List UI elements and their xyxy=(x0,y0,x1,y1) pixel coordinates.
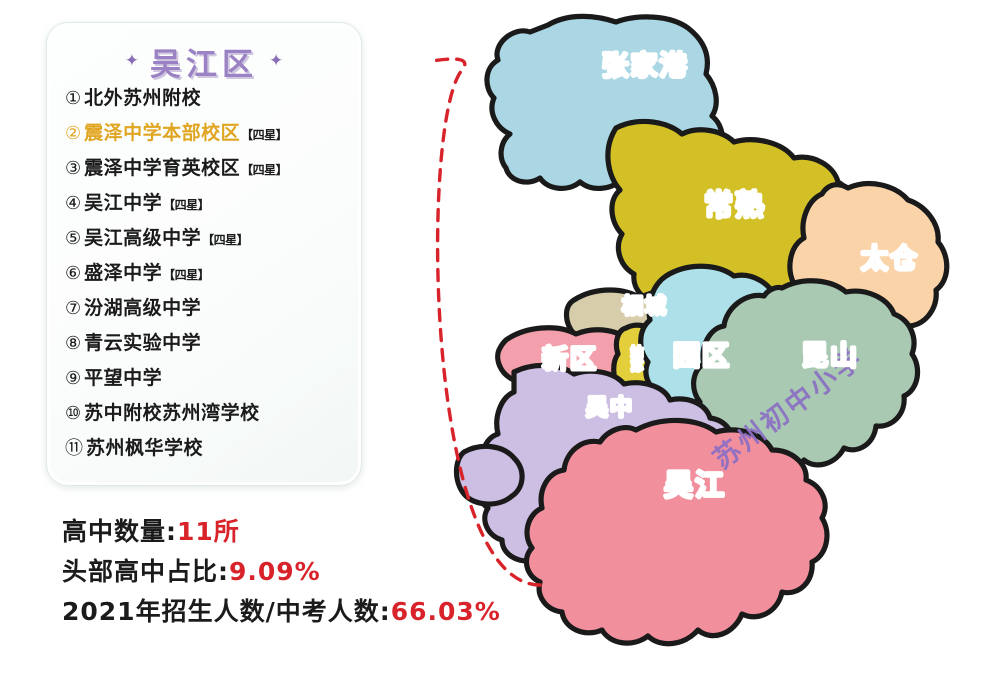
school-name: 青云实验中学 xyxy=(84,334,201,353)
school-list-item[interactable]: ①北外苏州附校 xyxy=(65,89,349,124)
statistic-label: 2021年招生人数/中考人数: xyxy=(62,597,391,626)
map-label-gusu[interactable]: 姑苏 xyxy=(631,344,645,373)
school-list-item[interactable]: ⑪苏州枫华学校 xyxy=(65,439,349,474)
school-list-item[interactable]: ⑦汾湖高级中学 xyxy=(65,299,349,334)
school-name: 吴江高级中学 xyxy=(84,229,201,248)
poster-root: ✦ 吴江区 ✦ ①北外苏州附校②震泽中学本部校区【四星】③震泽中学育英校区【四星… xyxy=(0,0,1000,685)
page-title: 吴江区 xyxy=(150,39,258,84)
statistic-label: 头部高中占比: xyxy=(62,557,229,586)
sparkle-right-icon: ✦ xyxy=(269,52,283,69)
school-index: ① xyxy=(65,90,81,108)
school-name: 苏州枫华学校 xyxy=(86,439,203,458)
school-list: ①北外苏州附校②震泽中学本部校区【四星】③震泽中学育英校区【四星】④吴江中学【四… xyxy=(65,89,349,474)
sparkle-left-icon: ✦ xyxy=(125,52,139,69)
school-star-badge: 【四星】 xyxy=(163,269,209,281)
school-list-item[interactable]: ⑩苏中附校苏州湾学校 xyxy=(65,404,349,439)
school-list-item[interactable]: ⑨平望中学 xyxy=(65,369,349,404)
school-name: 震泽中学育英校区 xyxy=(84,159,240,178)
school-name: 北外苏州附校 xyxy=(84,89,201,108)
school-star-badge: 【四星】 xyxy=(202,234,248,246)
statistic-label: 高中数量: xyxy=(62,517,177,546)
map-label-xiangcheng[interactable]: 相城 xyxy=(622,294,668,318)
school-name: 平望中学 xyxy=(84,369,162,388)
school-index: ② xyxy=(65,125,81,143)
school-index: ⑩ xyxy=(65,405,81,423)
school-index: ⑨ xyxy=(65,370,81,388)
map-label-xinqu[interactable]: 新区 xyxy=(542,344,598,375)
school-index: ⑦ xyxy=(65,300,81,318)
school-name: 苏中附校苏州湾学校 xyxy=(84,404,260,423)
school-list-item[interactable]: ⑤吴江高级中学【四星】 xyxy=(65,229,349,264)
school-name: 汾湖高级中学 xyxy=(84,299,201,318)
school-star-badge: 【四星】 xyxy=(241,164,287,176)
suzhou-district-map: 苏州初中小学 张家港常熟太仓相城新区姑苏园区昆山吴中吴江 xyxy=(430,0,1000,685)
statistic-value: 11所 xyxy=(177,517,240,546)
school-star-badge: 【四星】 xyxy=(241,129,287,141)
school-index: ⑪ xyxy=(65,440,83,458)
school-index: ⑧ xyxy=(65,335,81,353)
map-label-taicang[interactable]: 太仓 xyxy=(861,244,919,275)
map-label-zhangjiagang[interactable]: 张家港 xyxy=(602,50,689,82)
school-list-item[interactable]: ②震泽中学本部校区【四星】 xyxy=(65,124,349,159)
school-star-badge: 【四星】 xyxy=(163,199,209,211)
school-name: 盛泽中学 xyxy=(84,264,162,283)
school-list-item[interactable]: ⑧青云实验中学 xyxy=(65,334,349,369)
school-list-item[interactable]: ③震泽中学育英校区【四星】 xyxy=(65,159,349,194)
school-list-card: ✦ 吴江区 ✦ ①北外苏州附校②震泽中学本部校区【四星】③震泽中学育英校区【四星… xyxy=(46,22,362,486)
card-title-row: ✦ 吴江区 ✦ xyxy=(47,39,361,84)
map-label-wujiang[interactable]: 吴江 xyxy=(664,468,726,502)
school-index: ⑤ xyxy=(65,230,81,248)
school-list-item[interactable]: ④吴江中学【四星】 xyxy=(65,194,349,229)
map-label-wuzhong[interactable]: 吴中 xyxy=(586,396,634,421)
school-name: 震泽中学本部校区 xyxy=(84,124,240,143)
school-index: ⑥ xyxy=(65,265,81,283)
map-label-yuanqu[interactable]: 园区 xyxy=(673,341,731,372)
statistic-value: 9.09% xyxy=(229,557,321,586)
school-index: ④ xyxy=(65,195,81,213)
map-label-changshu[interactable]: 常熟 xyxy=(704,188,766,222)
map-label-kunshan[interactable]: 昆山 xyxy=(801,341,859,372)
school-list-item[interactable]: ⑥盛泽中学【四星】 xyxy=(65,264,349,299)
region-wujiang[interactable] xyxy=(526,420,827,643)
school-index: ③ xyxy=(65,160,81,178)
school-name: 吴江中学 xyxy=(84,194,162,213)
